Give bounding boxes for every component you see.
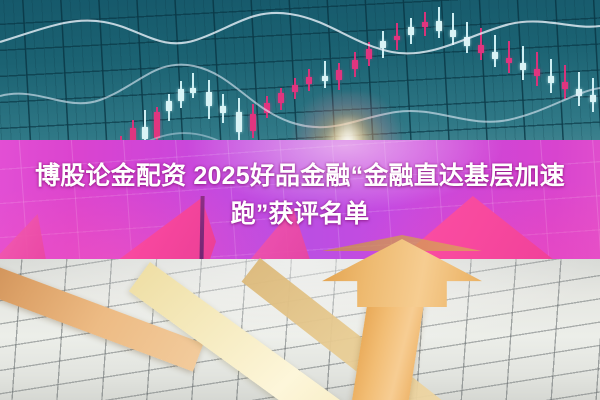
candlestick-body bbox=[278, 93, 284, 103]
candlestick-wick bbox=[508, 41, 509, 73]
candlestick-body bbox=[506, 58, 512, 63]
candlestick-body bbox=[206, 92, 212, 107]
banner-image: 博股论金配资 2025好品金融“金融直达基层加速跑”获评名单 bbox=[0, 0, 600, 400]
right-gold-arrow bbox=[356, 247, 556, 400]
candlestick-body bbox=[178, 89, 184, 101]
candlestick-body bbox=[548, 76, 554, 83]
candlestick-body bbox=[562, 82, 568, 89]
candlestick-body bbox=[220, 106, 226, 113]
candlestick-body bbox=[264, 103, 270, 113]
candlestick-body bbox=[380, 41, 386, 48]
candlestick-body bbox=[190, 88, 196, 93]
candlestick-body bbox=[292, 85, 298, 92]
candlestick-wick bbox=[480, 28, 481, 60]
candlestick-wick bbox=[324, 61, 325, 88]
candlestick-body bbox=[520, 63, 526, 70]
candlestick-body bbox=[464, 37, 470, 47]
candlestick-body bbox=[478, 45, 484, 52]
candlestick-body bbox=[142, 127, 148, 139]
candlestick-wick bbox=[452, 13, 453, 45]
candlestick-body bbox=[450, 30, 456, 37]
candlestick-body bbox=[534, 69, 540, 76]
candlestick-body bbox=[336, 70, 342, 80]
candlestick-body bbox=[166, 101, 172, 111]
candlestick-body bbox=[322, 76, 328, 81]
candlestick-wick bbox=[192, 73, 193, 97]
candlestick-body bbox=[250, 114, 256, 131]
candlestick-body bbox=[408, 27, 414, 34]
candlestick-body bbox=[576, 89, 582, 96]
candlestick-body bbox=[306, 77, 312, 84]
candlestick-body bbox=[422, 22, 428, 27]
candlestick-body bbox=[492, 52, 498, 59]
candlestick-body bbox=[236, 112, 242, 131]
candlestick-body bbox=[352, 60, 358, 70]
candlestick-body bbox=[394, 36, 400, 41]
candlestick-body bbox=[590, 95, 596, 102]
candlestick-body bbox=[436, 21, 442, 31]
candlestick-body bbox=[366, 49, 372, 59]
candlestick-wick bbox=[494, 35, 495, 67]
page-title: 博股论金配资 2025好品金融“金融直达基层加速跑”获评名单 bbox=[0, 157, 600, 233]
candlestick-body bbox=[154, 112, 160, 139]
